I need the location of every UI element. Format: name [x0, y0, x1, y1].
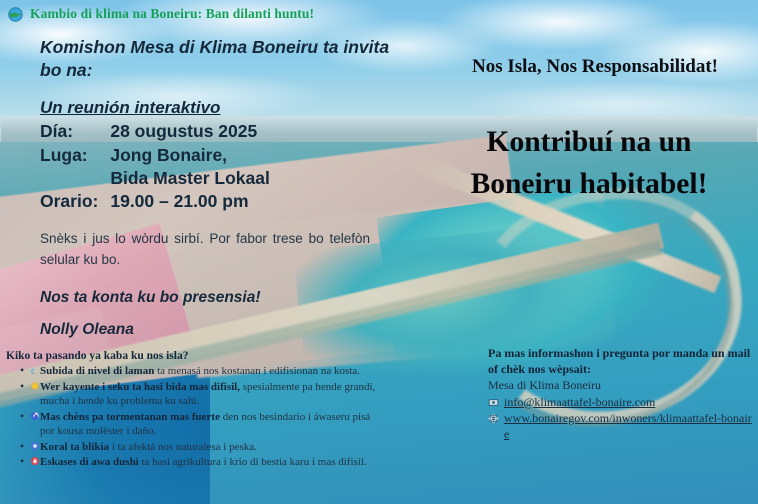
event-details-table: Día: 28 ougustus 2025 Luga: Jong Bonaire… [40, 120, 270, 214]
poster: Kambio di klima na Boneiru: Ban dilanti … [0, 0, 758, 504]
hero-headline-line1: Kontribuí na un [428, 122, 750, 164]
table-row: Orario: 19.00 – 21.00 pm [40, 190, 270, 213]
detail-value-venue-line2: Bida Master Lokaal [110, 167, 270, 190]
coral-icon [30, 441, 40, 451]
invitation-lead: Komishon Mesa di Klima Boneiru ta invita… [40, 36, 390, 82]
campaign-banner: Kambio di klima na Boneiru: Ban dilanti … [8, 6, 314, 22]
impact-bold-0: Subida di nivel di laman [40, 365, 154, 377]
impact-bold-main-2: tormentanan mas fuerte [106, 411, 220, 423]
impact-bold-4: Eskases di awa dushi [40, 456, 139, 468]
detail-label-orario: Orario: [40, 190, 110, 213]
detail-label-dia: Día: [40, 120, 110, 143]
hero-tagline: Nos Isla, Nos Responsabilidat! [440, 56, 750, 78]
detail-label-luga: Luga: [40, 144, 110, 167]
impact-rest-4: ta hasi agrikultura i krio di bestia kar… [139, 456, 367, 468]
invitation-signature: Nolly Oleana [40, 321, 390, 339]
globe-icon [8, 7, 23, 22]
contact-website-link[interactable]: www.bonairegov.com/inwoners/klimaattafel… [504, 411, 756, 442]
impacts-list: Subida di nivel di laman ta menasá nos k… [6, 364, 378, 470]
wave-icon [30, 365, 40, 375]
impact-bold-prefix-2: Mas chèns pa [40, 411, 106, 423]
list-item: Mas chèns pa tormentanan mas fuerte den … [20, 410, 378, 439]
contact-organization: Mesa di Klima Boneiru [488, 378, 756, 394]
detail-label-blank [40, 167, 110, 190]
contact-website-row[interactable]: www.bonairegov.com/inwoners/klimaattafel… [488, 411, 756, 442]
envelope-icon [488, 397, 499, 408]
hero-headline-line2: Boneiru habitabel! [428, 164, 750, 206]
invitation-block: Komishon Mesa di Klima Boneiru ta invita… [40, 36, 390, 339]
list-item: Subida di nivel di laman ta menasá nos k… [20, 364, 378, 379]
droplet-icon [30, 456, 40, 466]
table-row: Día: 28 ougustus 2025 [40, 120, 270, 143]
impact-bold-2: Mas chèns pa tormentanan mas fuerte [40, 411, 220, 423]
detail-value-luga: Jong Bonaire, [110, 144, 270, 167]
list-item: Eskases di awa dushi ta hasi agrikultura… [20, 455, 378, 470]
invitation-subheading: Un reunión interaktivo [40, 98, 390, 118]
globe-icon [488, 413, 499, 424]
table-row: Luga: Jong Bonaire, [40, 144, 270, 167]
contact-block: Pa mas informashon i pregunta por manda … [488, 346, 756, 442]
detail-value-orario: 19.00 – 21.00 pm [110, 190, 270, 213]
impact-rest-0: ta menasá nos kostanan i edifisionan na … [154, 365, 360, 377]
sun-icon [30, 381, 40, 391]
table-row: Bida Master Lokaal [40, 167, 270, 190]
impacts-block: Kiko ta pasando ya kaba ku nos isla? Sub… [6, 350, 378, 471]
impacts-heading: Kiko ta pasando ya kaba ku nos isla? [6, 350, 378, 362]
impact-bold-1: Wer kayente i seku ta hasi bida mas difi… [40, 381, 240, 393]
invitation-note: Snèks i jus lo wòrdu sirbí. Por fabor tr… [40, 228, 370, 271]
hero-headline: Kontribuí na un Boneiru habitabel! [428, 122, 750, 206]
contact-email-row[interactable]: info@klimaattafel-bonaire.com [488, 395, 756, 410]
campaign-banner-label: Kambio di klima na Boneiru: Ban dilanti … [30, 6, 314, 22]
contact-prompt: Pa mas informashon i pregunta por manda … [488, 346, 756, 377]
list-item: Koral ta blikia i ta afektá nos naturale… [20, 440, 378, 455]
detail-value-dia: 28 ougustus 2025 [110, 120, 270, 143]
invitation-closing: Nos ta konta ku bo presensia! [40, 289, 390, 307]
impact-bold-3: Koral ta blikia [40, 441, 109, 453]
impact-rest-3: i ta afektá nos naturalesa i peska. [109, 441, 257, 453]
cyclone-icon [30, 411, 40, 421]
list-item: Wer kayente i seku ta hasi bida mas difi… [20, 380, 378, 409]
contact-email-link[interactable]: info@klimaattafel-bonaire.com [504, 395, 655, 410]
